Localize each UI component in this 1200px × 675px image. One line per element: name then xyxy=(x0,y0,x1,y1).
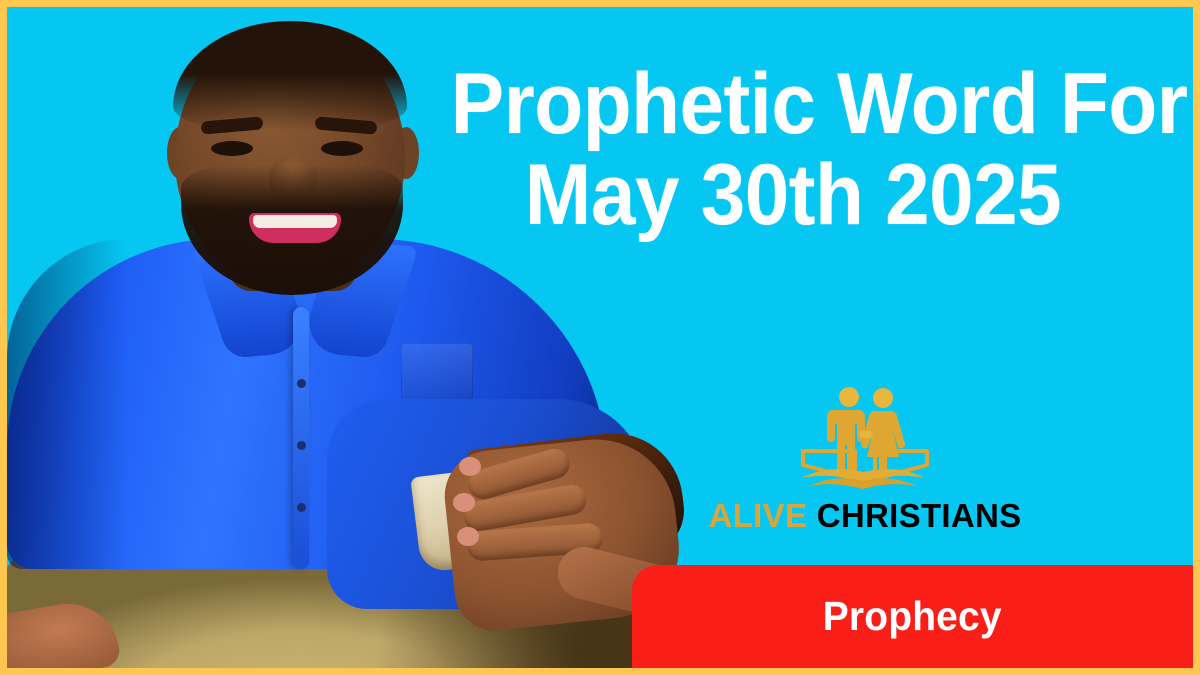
mouth xyxy=(249,213,341,243)
brand-logo: ALIVE CHRISTIANS xyxy=(695,385,1035,535)
page-title: Prophetic Word For May 30th 2025 xyxy=(451,59,1135,241)
shirt-button xyxy=(297,441,306,450)
eye-left xyxy=(211,141,253,156)
shirt-button xyxy=(297,379,306,388)
shirt-button xyxy=(297,503,306,512)
title-line-2: May 30th 2025 xyxy=(451,150,1135,241)
thumbnail-canvas: Prophetic Word For May 30th 2025 xyxy=(7,7,1193,668)
fingernail xyxy=(457,527,479,546)
eye-right xyxy=(321,141,363,156)
logo-word-christians: CHRISTIANS xyxy=(817,497,1022,534)
category-label: Prophecy xyxy=(823,593,1002,640)
title-line-1: Prophetic Word For xyxy=(451,59,1135,150)
fingernail xyxy=(453,493,475,512)
shirt-pocket xyxy=(401,343,473,405)
logo-wordmark: ALIVE CHRISTIANS xyxy=(695,497,1035,535)
fingernail xyxy=(459,457,481,476)
teeth xyxy=(253,215,337,228)
shirt-placket xyxy=(293,307,309,569)
logo-word-alive: ALIVE xyxy=(709,497,817,534)
category-banner: Prophecy xyxy=(632,565,1193,668)
video-thumbnail: Prophetic Word For May 30th 2025 xyxy=(0,0,1200,675)
couple-on-open-book-icon xyxy=(799,385,931,493)
